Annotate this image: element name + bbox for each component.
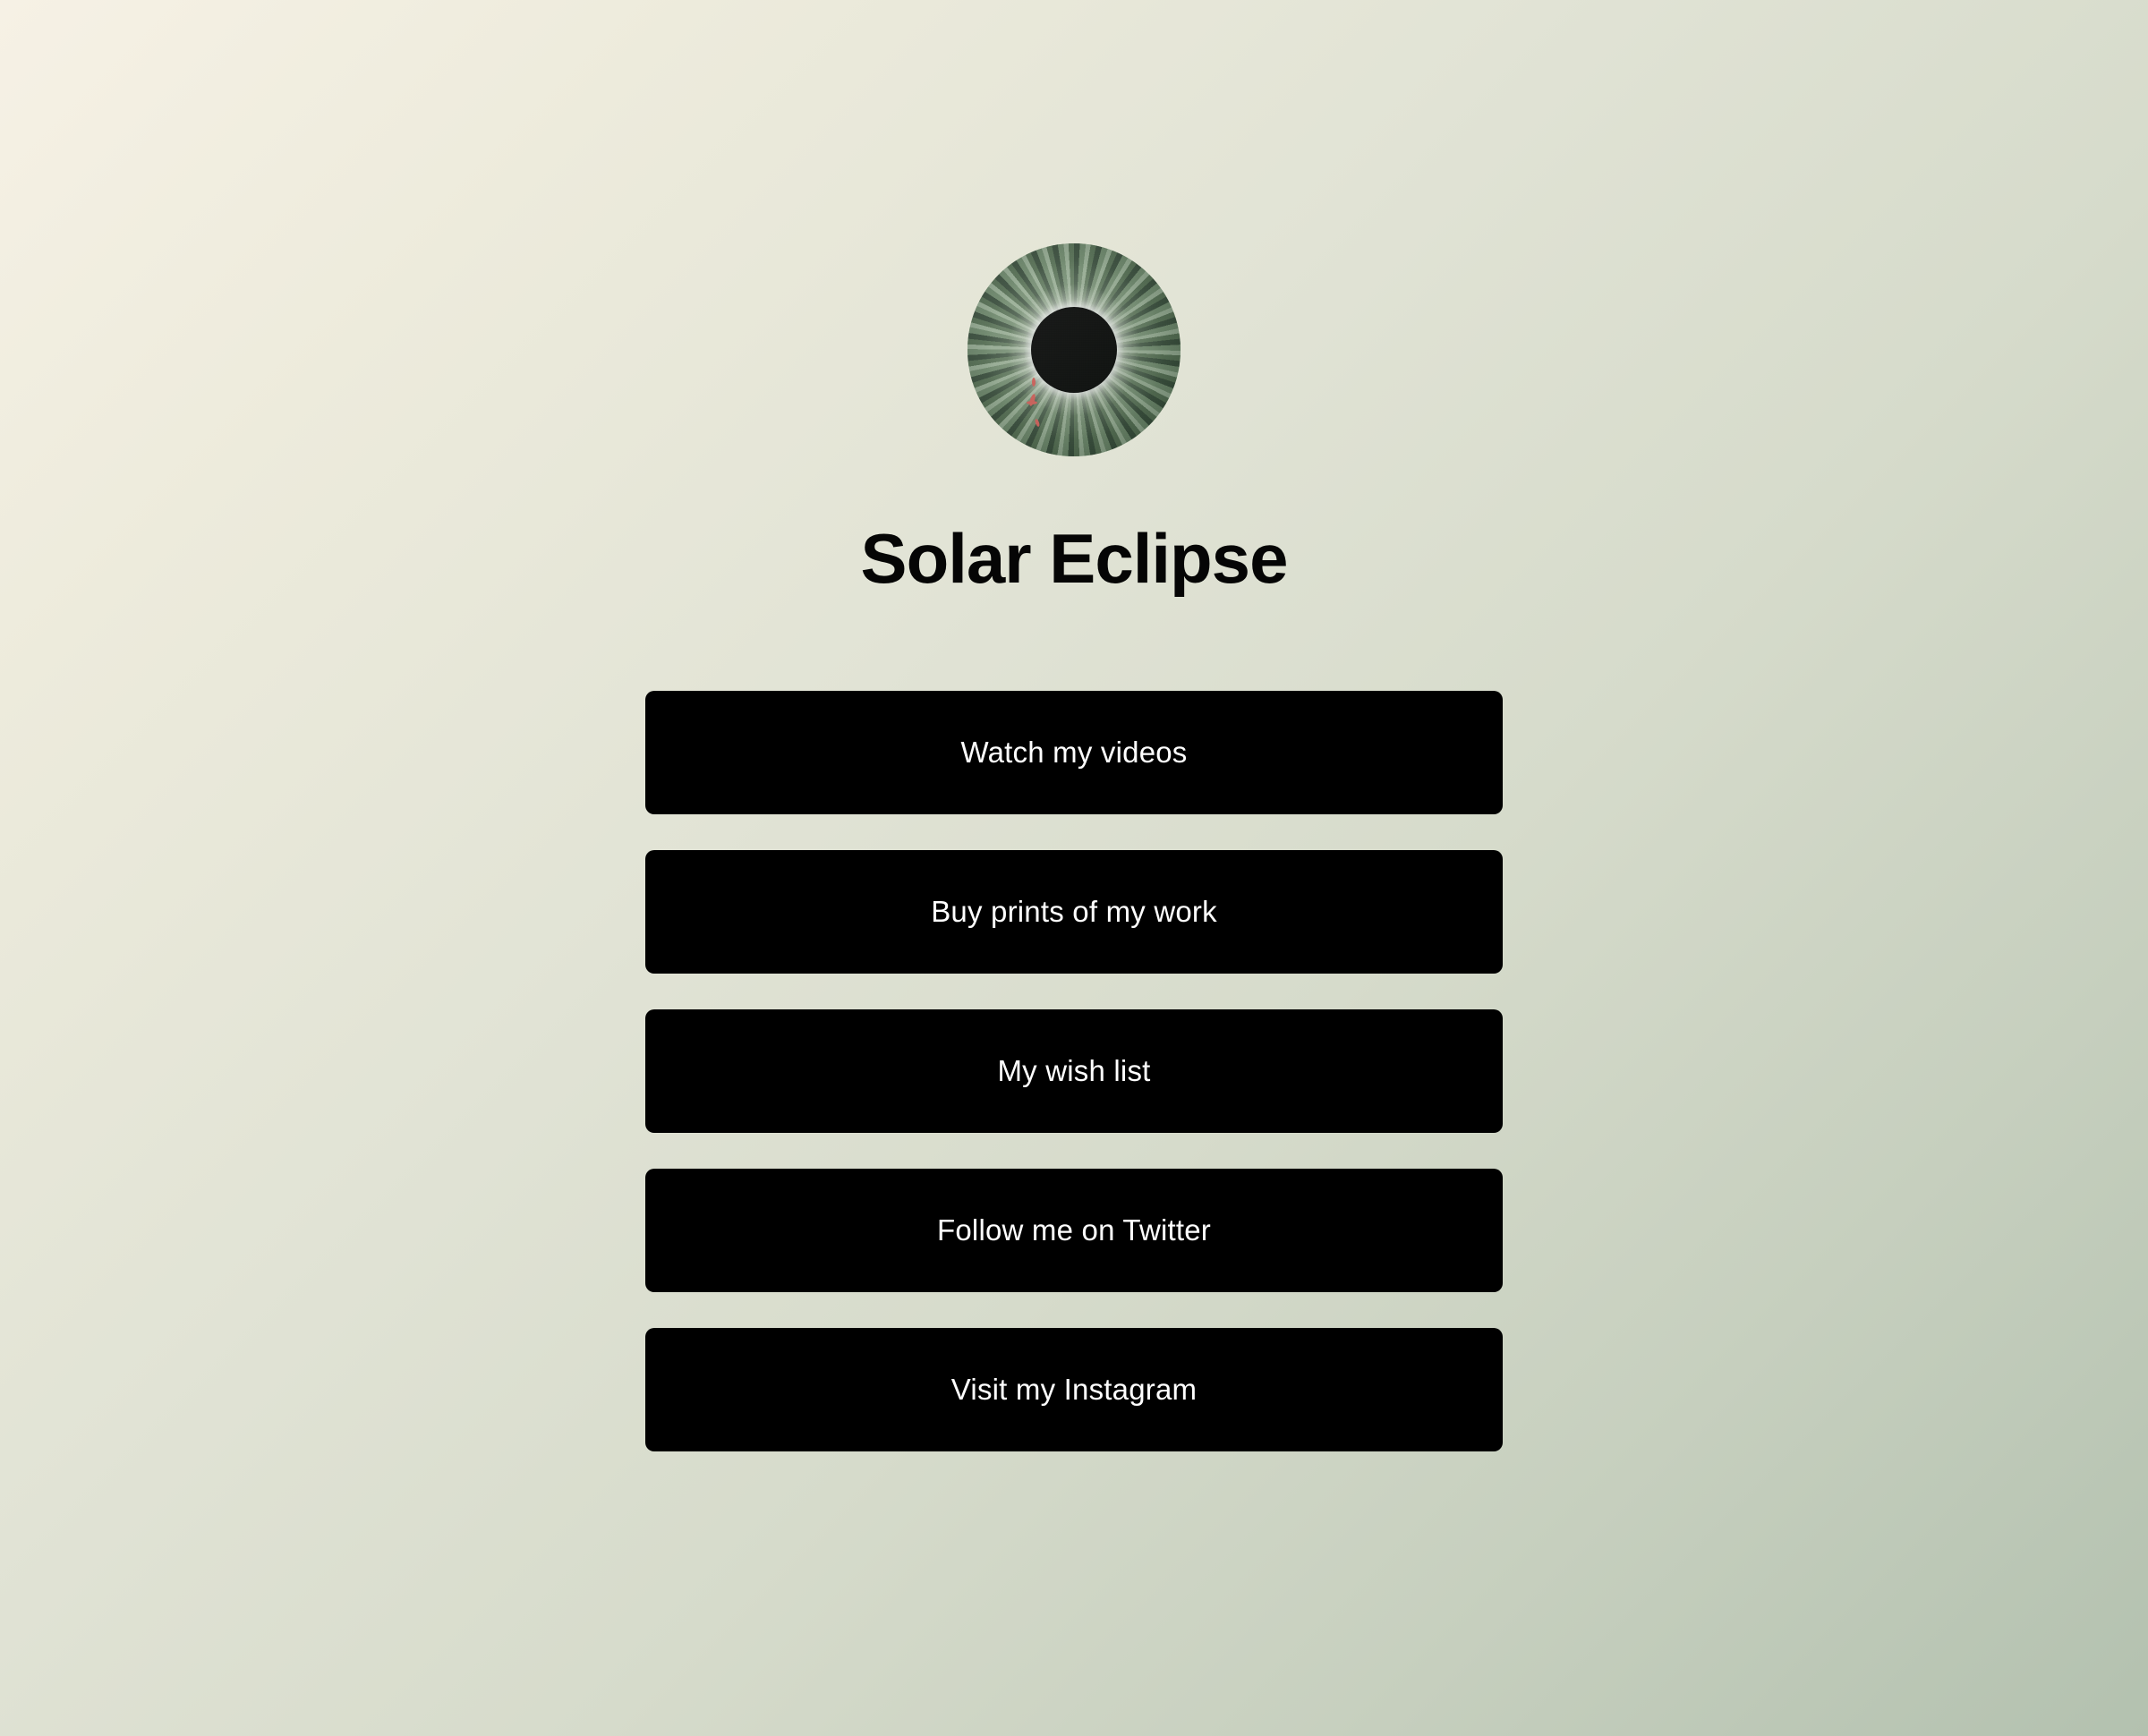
avatar xyxy=(967,243,1181,456)
link-button-watch-my-videos[interactable]: Watch my videos xyxy=(645,691,1503,814)
link-button-visit-my-instagram[interactable]: Visit my Instagram xyxy=(645,1328,1503,1451)
link-button-follow-me-on-twitter[interactable]: Follow me on Twitter xyxy=(645,1169,1503,1292)
link-in-bio-page: Solar Eclipse Watch my videos Buy prints… xyxy=(0,0,2148,1736)
solar-eclipse-icon xyxy=(967,243,1181,456)
link-list: Watch my videos Buy prints of my work My… xyxy=(645,691,1503,1451)
link-button-buy-prints-of-my-work[interactable]: Buy prints of my work xyxy=(645,850,1503,974)
link-button-my-wish-list[interactable]: My wish list xyxy=(645,1009,1503,1133)
film-grain-overlay xyxy=(967,243,1181,456)
page-title: Solar Eclipse xyxy=(861,521,1288,598)
